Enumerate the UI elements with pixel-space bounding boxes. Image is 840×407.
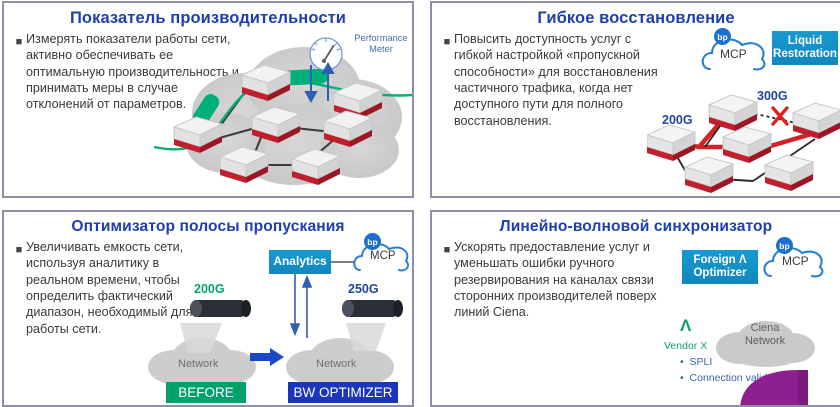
analytics-box[interactable]: Analytics bbox=[269, 250, 331, 274]
bp-badge: bp bbox=[364, 233, 381, 250]
panel-line-wave-synchronizer: Линейно-волновой синхронизатор ■ Ускорят… bbox=[430, 210, 840, 407]
rate-label-200g: 200G bbox=[194, 282, 225, 296]
panel-performance-metric: Показатель производительности ■ Измерять… bbox=[2, 1, 414, 198]
bullet-marker: ■ bbox=[12, 31, 26, 112]
chip-line2: Optimizer bbox=[693, 267, 746, 280]
bullet-marker: ■ bbox=[440, 239, 454, 320]
chip-line1: Foreign Λ bbox=[693, 254, 746, 267]
bw-optimizer-label-box[interactable]: BW OPTIMIZER bbox=[288, 382, 398, 403]
pipe-250g-icon bbox=[340, 296, 406, 320]
bullet-text: Повысить доступность услуг с гибкой наст… bbox=[454, 31, 659, 129]
performance-meter-label: Performance Meter bbox=[348, 33, 414, 55]
meter-label-line2: Meter bbox=[369, 44, 393, 54]
panel-title: Оптимизатор полосы пропускания bbox=[4, 218, 412, 235]
purple-wedge bbox=[740, 370, 840, 407]
ciena-line1: Ciena bbox=[751, 322, 780, 334]
bullet-text: Ускорять предоставление услуг и уменьшат… bbox=[454, 239, 666, 320]
meter-label-line1: Performance bbox=[354, 33, 407, 43]
link-failure-x-icon bbox=[773, 108, 787, 124]
before-label-box[interactable]: BEFORE bbox=[166, 382, 246, 403]
chip-line1: Liquid bbox=[788, 35, 823, 48]
arrow-right-icon bbox=[250, 348, 286, 366]
sub-bullet-1-text: SPLI bbox=[690, 356, 713, 368]
network-label-after: Network bbox=[316, 358, 356, 370]
ciena-network-label: Ciena Network bbox=[722, 322, 808, 348]
meter-arrows-icon bbox=[300, 61, 346, 105]
liquid-restoration-chip[interactable]: Liquid Restoration bbox=[772, 31, 838, 65]
mcp-label: MCP bbox=[370, 250, 396, 262]
rate-label-250g: 250G bbox=[348, 282, 379, 296]
network-label-before: Network bbox=[178, 358, 218, 370]
ciena-line2: Network bbox=[745, 335, 785, 347]
panel-grid: Показатель производительности ■ Измерять… bbox=[0, 0, 840, 407]
restoration-network-diagram bbox=[647, 81, 840, 196]
bullet-marker: ■ bbox=[440, 31, 454, 129]
bp-badge: bp bbox=[776, 237, 793, 254]
bp-badge: bp bbox=[714, 28, 731, 45]
chip-line2: Restoration bbox=[773, 48, 837, 61]
panel-bandwidth-optimizer: Оптимизатор полосы пропускания ■ Увеличи… bbox=[2, 210, 414, 407]
mcp-label: MCP bbox=[782, 254, 809, 268]
rate-label-300g: 300G bbox=[757, 89, 788, 103]
rate-label-200g: 200G bbox=[662, 113, 693, 127]
mcp-label: MCP bbox=[720, 47, 747, 61]
bullet-marker: ■ bbox=[12, 239, 26, 337]
vendor-x-label: Vendor X bbox=[664, 340, 707, 352]
panel-liquid-restoration: Гибкое восстановление ■ Повысить доступн… bbox=[430, 1, 840, 198]
panel-title: Гибкое восстановление bbox=[432, 9, 840, 27]
sub-bullet-1: • SPLI bbox=[680, 356, 712, 368]
foreign-lambda-optimizer-chip[interactable]: Foreign Λ Optimizer bbox=[682, 250, 758, 284]
panel-title: Линейно-волновой синхронизатор bbox=[432, 218, 840, 235]
lambda-icon: Λ bbox=[680, 316, 691, 336]
pipe-200g-icon bbox=[188, 296, 254, 320]
